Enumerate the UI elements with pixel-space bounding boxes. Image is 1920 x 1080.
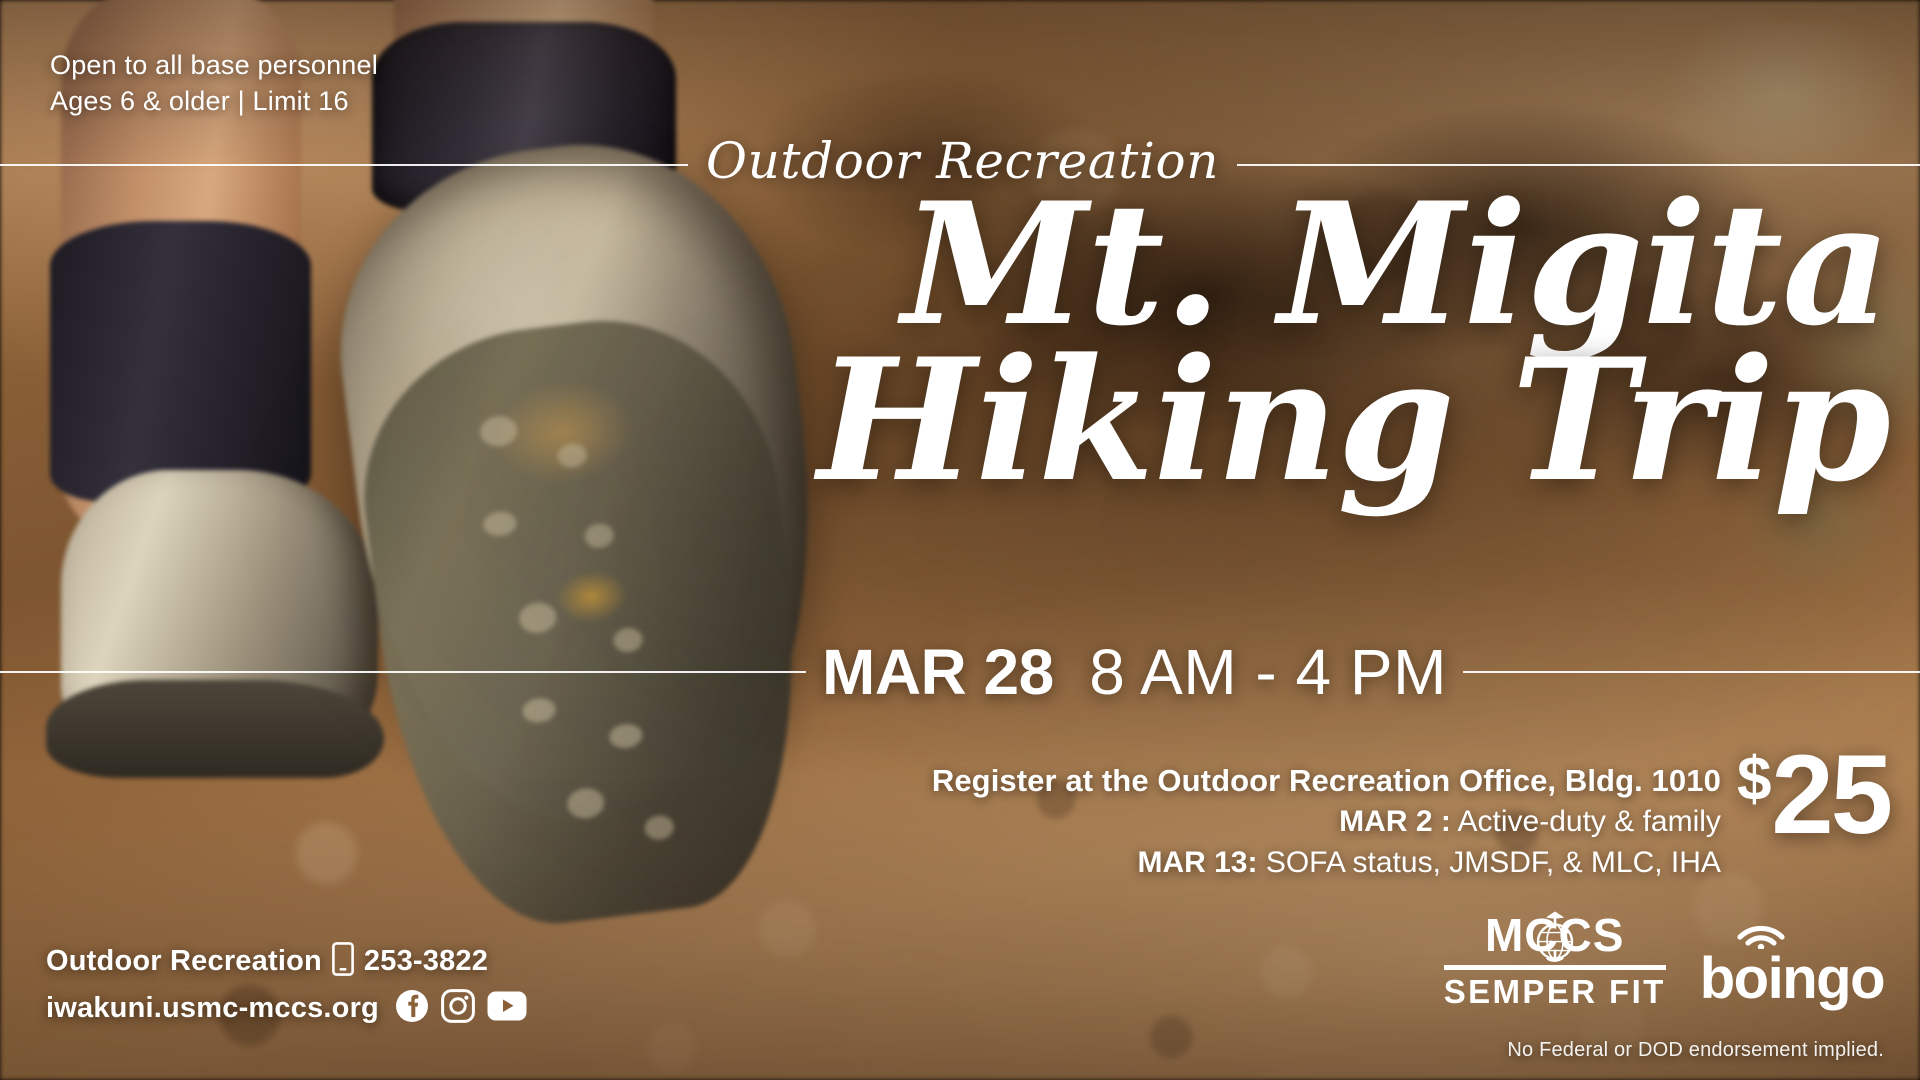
event-date: MAR 28 [822, 636, 1054, 708]
footer-website[interactable]: iwakuni.usmc-mccs.org [46, 992, 379, 1025]
date-rule-left [0, 671, 806, 673]
footer-phone-number[interactable]: 253-3822 [364, 945, 488, 978]
registration-window-1-text: Active-duty & family [1451, 805, 1721, 838]
mobile-phone-icon [332, 942, 354, 981]
eligibility-note: Open to all base personnel Ages 6 & olde… [50, 48, 378, 120]
event-datetime: MAR 28 8 AM - 4 PM [806, 640, 1463, 704]
registration-window-2-label: MAR 13: [1137, 846, 1257, 879]
boingo-logo: boingo [1700, 911, 1884, 1008]
mccs-wordmark: MCCS [1444, 912, 1666, 958]
event-title-line-1: Mt. Migita [818, 186, 1890, 342]
registration-window-1-label: MAR 2 : [1339, 805, 1451, 838]
footer-org-name: Outdoor Recreation [46, 945, 322, 978]
social-links [395, 989, 527, 1028]
eagle-globe-anchor-icon [1523, 906, 1587, 970]
eligibility-line-2: Ages 6 & older | Limit 16 [50, 84, 378, 120]
boingo-wordmark: boingo [1700, 950, 1884, 1008]
date-rule-right [1463, 671, 1920, 673]
registration-window-1: MAR 2 : Active-duty & family [932, 802, 1721, 843]
footer-web-row: iwakuni.usmc-mccs.org [46, 989, 527, 1028]
event-time: 8 AM - 4 PM [1089, 636, 1447, 708]
instagram-icon[interactable] [441, 989, 475, 1028]
event-title: Mt. Migita Hiking Trip [818, 186, 1890, 498]
footer-phone-row: Outdoor Recreation 253-3822 [46, 942, 527, 981]
date-row: MAR 28 8 AM - 4 PM [0, 640, 1920, 704]
price-amount: 25 [1771, 748, 1890, 842]
facebook-icon[interactable] [395, 989, 429, 1028]
kicker-rule-left [0, 164, 688, 166]
mccs-semper-fit-text: SEMPER FIT [1444, 975, 1666, 1008]
mccs-semper-fit-logo: MCCS SEMPER FIT [1444, 912, 1666, 1008]
price-badge: $ 25 [1737, 748, 1890, 842]
footer-contact: Outdoor Recreation 253-3822 iwakuni.usmc… [46, 942, 527, 1028]
registration-location: Register at the Outdoor Recreation Offic… [932, 760, 1721, 802]
poster-content: Open to all base personnel Ages 6 & olde… [0, 0, 1920, 1080]
sponsor-logos: MCCS SEMPER FIT [1444, 911, 1884, 1008]
price-currency: $ [1737, 754, 1771, 806]
event-title-line-2: Hiking Trip [818, 342, 1890, 498]
endorsement-disclaimer: No Federal or DOD endorsement implied. [1507, 1039, 1884, 1062]
youtube-icon[interactable] [487, 991, 527, 1026]
registration-block: Register at the Outdoor Recreation Offic… [932, 760, 1890, 884]
poster-canvas: Open to all base personnel Ages 6 & olde… [0, 0, 1920, 1080]
registration-lines: Register at the Outdoor Recreation Offic… [932, 760, 1721, 884]
registration-window-2: MAR 13: SOFA status, JMSDF, & MLC, IHA [932, 843, 1721, 884]
eligibility-line-1: Open to all base personnel [50, 48, 378, 84]
registration-window-2-text: SOFA status, JMSDF, & MLC, IHA [1257, 846, 1720, 879]
